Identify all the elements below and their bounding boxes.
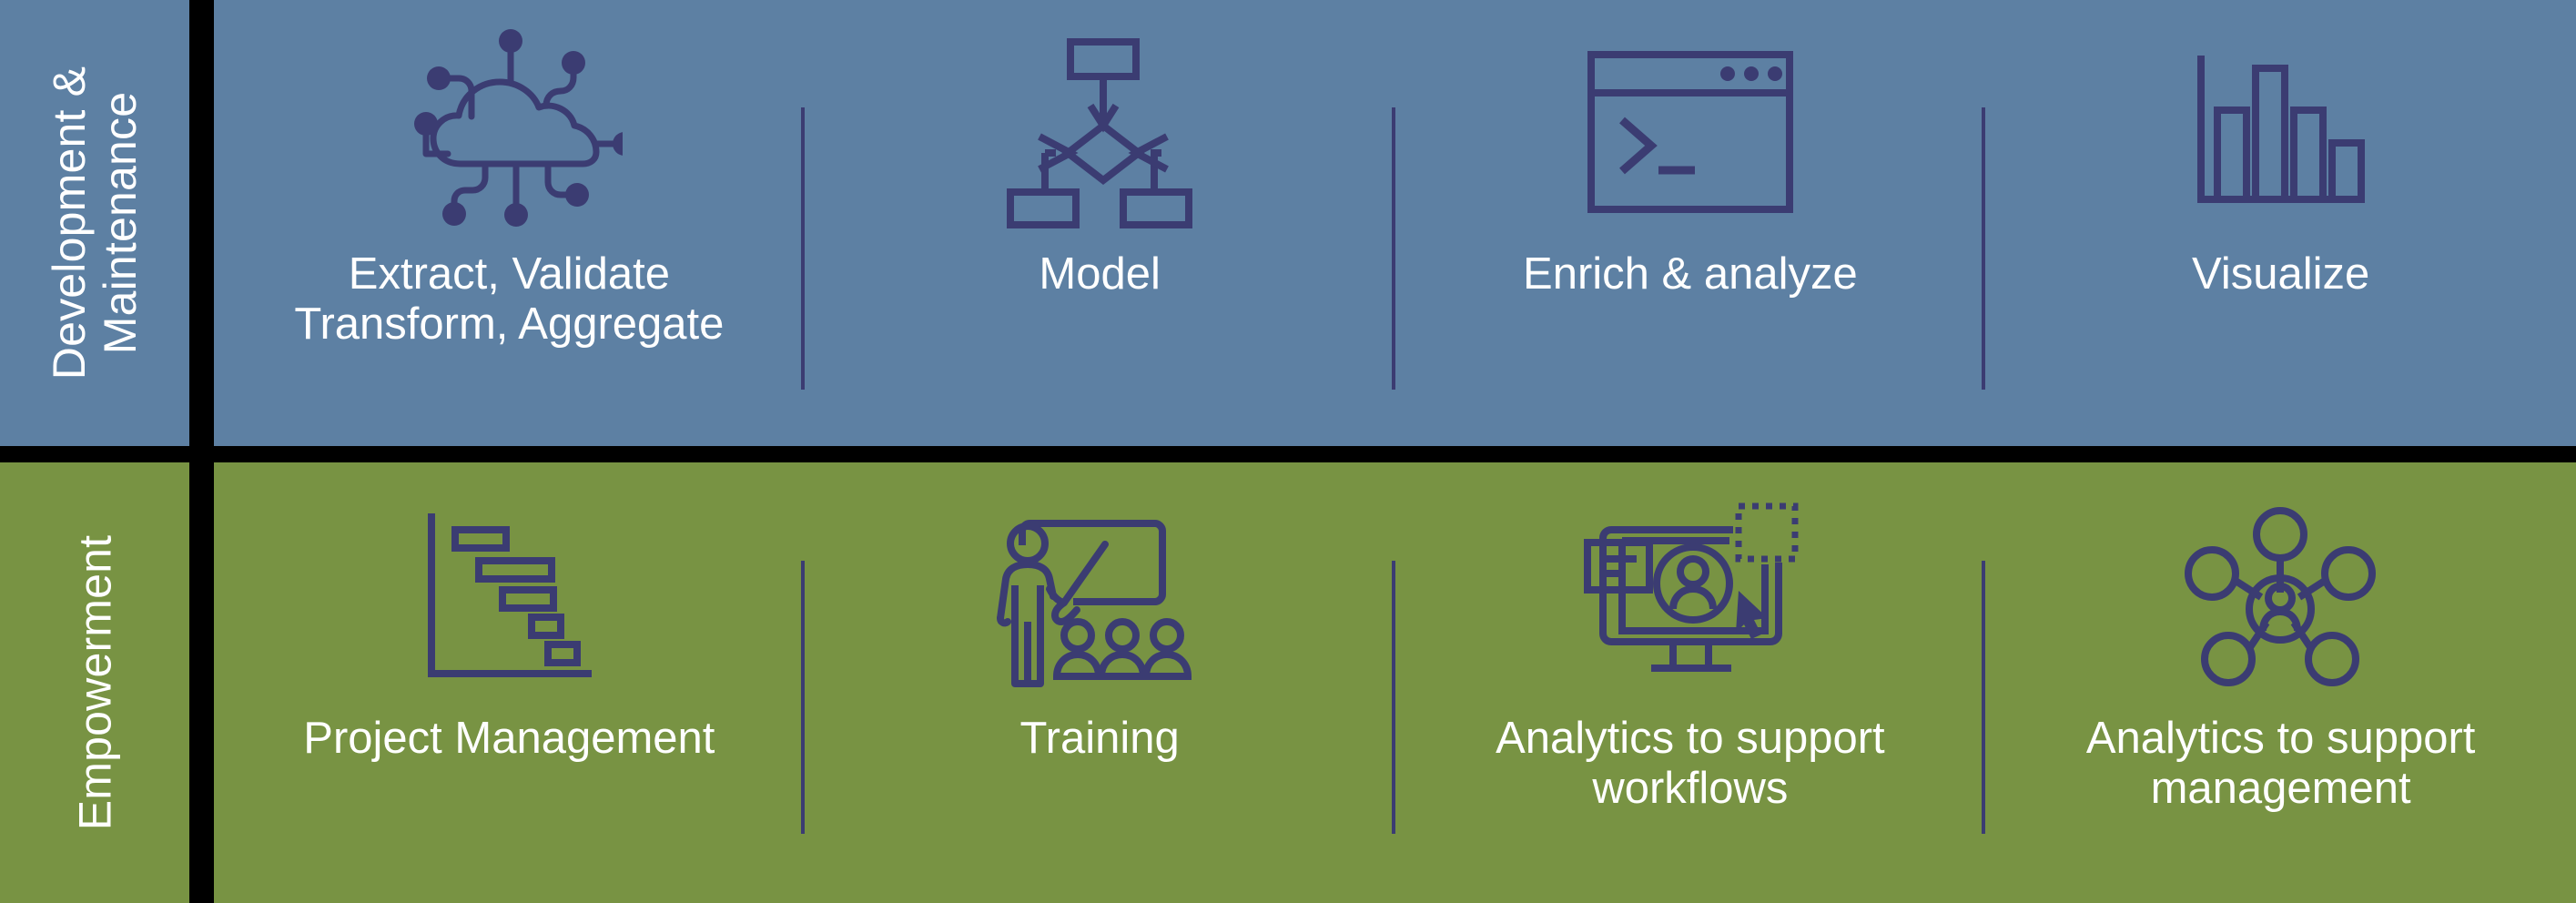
capability-matrix: Development & Maintenance xyxy=(0,0,2576,903)
cell-enrich-analyze[interactable]: Enrich & analyze xyxy=(1395,0,1986,446)
network-hub-user-icon xyxy=(2183,482,2378,710)
cell-label: Project Management xyxy=(292,714,725,764)
development-maintenance-cells: Extract, Validate Transform, Aggregate xyxy=(214,0,2576,446)
row-label-empowerment: Empowerment xyxy=(0,462,189,903)
training-classroom-icon xyxy=(993,482,1207,710)
cell-training[interactable]: Training xyxy=(805,462,1395,903)
cloud-network-icon xyxy=(395,27,623,237)
cell-label: Training xyxy=(1009,714,1191,764)
cell-label: Visualize xyxy=(2181,249,2380,299)
gantt-chart-icon xyxy=(421,482,598,710)
row-label-development-maintenance: Development & Maintenance xyxy=(0,0,189,446)
cell-label: Analytics to support management xyxy=(2075,714,2487,814)
monitor-user-cursor-icon xyxy=(1577,482,1804,710)
terminal-window-icon xyxy=(1586,27,1795,237)
cell-project-management[interactable]: Project Management xyxy=(214,462,805,903)
cell-visualize[interactable]: Visualize xyxy=(1985,0,2576,446)
cell-label: Enrich & analyze xyxy=(1512,249,1869,299)
cell-label: Model xyxy=(1028,249,1171,299)
cell-label: Extract, Validate Transform, Aggregate xyxy=(283,249,735,350)
data-model-flowchart-icon xyxy=(999,27,1200,237)
bar-chart-icon xyxy=(2190,27,2372,237)
cell-label: Analytics to support workflows xyxy=(1485,714,1896,814)
cell-model[interactable]: Model xyxy=(805,0,1395,446)
empowerment-cells: Project Management xyxy=(214,462,2576,903)
row-development-maintenance: Development & Maintenance xyxy=(0,0,2576,446)
cell-extract-validate-transform-aggregate[interactable]: Extract, Validate Transform, Aggregate xyxy=(214,0,805,446)
cell-analytics-workflows[interactable]: Analytics to support workflows xyxy=(1395,462,1986,903)
row-label-text: Development & Maintenance xyxy=(44,66,146,380)
cell-analytics-management[interactable]: Analytics to support management xyxy=(1985,462,2576,903)
row-label-text: Empowerment xyxy=(69,535,120,831)
row-empowerment: Empowerment Project Management xyxy=(0,462,2576,903)
